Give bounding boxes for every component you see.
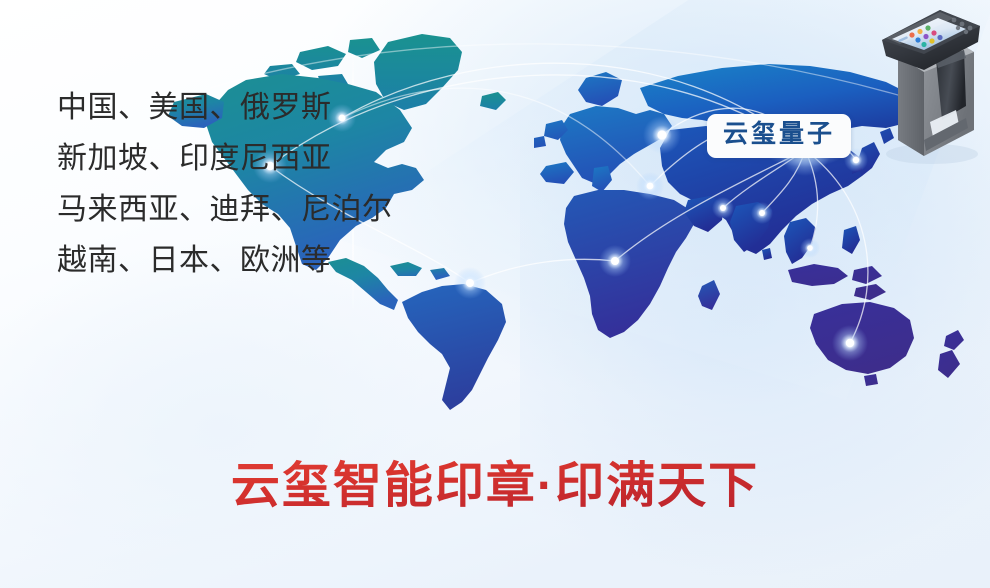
- landmass-philippines: [842, 226, 860, 254]
- landmass-new-zealand: [938, 330, 964, 378]
- map-node-south-asia: [751, 202, 773, 224]
- landmass-iberia: [540, 162, 574, 184]
- landmass-arctic-islands: [264, 38, 380, 88]
- landmass-arabia: [684, 196, 724, 232]
- country-line-1: 中国、美国、俄罗斯: [57, 82, 357, 133]
- map-node-australia: [832, 325, 868, 361]
- landmass-sri-lanka: [762, 248, 772, 260]
- landmass-africa: [564, 190, 694, 338]
- smart-stamp-device: [862, 0, 990, 166]
- landmass-madagascar: [698, 280, 720, 310]
- landmass-iceland: [480, 92, 506, 110]
- arc-china-mideast: [723, 150, 805, 208]
- map-node-mideast: [712, 197, 734, 219]
- map-node-russia: [643, 116, 681, 154]
- landmass-india: [730, 202, 772, 252]
- landmass-australia: [810, 302, 914, 374]
- landmass-korea: [850, 158, 862, 174]
- product-name-badge: 云玺量子: [707, 114, 851, 158]
- map-node-europe: [636, 172, 664, 200]
- map-node-west-africa: [599, 245, 631, 277]
- landmass-indochina: [784, 218, 816, 264]
- landmass-greenland: [374, 34, 462, 110]
- poster-canvas: 中国、美国、俄罗斯 新加坡、印度尼西亚 马来西亚、迪拜、尼泊尔 越南、日本、欧洲…: [0, 0, 990, 588]
- landmass-tasmania: [864, 374, 878, 386]
- landmass-british-isles: [534, 120, 568, 148]
- map-node-southeast-asia: [800, 238, 820, 258]
- country-line-4: 越南、日本、欧洲等: [57, 235, 357, 286]
- landmass-scandinavia: [578, 72, 622, 106]
- landmass-south-america: [402, 284, 506, 410]
- device-body-side: [898, 56, 924, 156]
- arc-china-sea: [805, 150, 818, 248]
- landmass-europe: [560, 106, 672, 184]
- arc-china-south-asia: [762, 150, 805, 213]
- country-line-3: 马来西亚、迪拜、尼泊尔: [57, 184, 357, 235]
- headline-slogan: 云玺智能印章·印满天下: [0, 446, 990, 517]
- landmass-caribbean: [390, 262, 450, 280]
- background-glow-left: [0, 240, 480, 588]
- country-line-2: 新加坡、印度尼西亚: [57, 133, 357, 184]
- arc-china-west-africa: [615, 150, 805, 261]
- arc-china-australia: [805, 150, 868, 343]
- map-node-brazil: [454, 267, 486, 299]
- landmass-indonesia: [788, 264, 886, 300]
- landmass-italy-balkans: [592, 166, 612, 192]
- country-coverage-list: 中国、美国、俄罗斯 新加坡、印度尼西亚 马来西亚、迪拜、尼泊尔 越南、日本、欧洲…: [57, 82, 357, 286]
- arc-canada-europe: [342, 88, 650, 186]
- arc-west-africa-brazil: [470, 259, 615, 283]
